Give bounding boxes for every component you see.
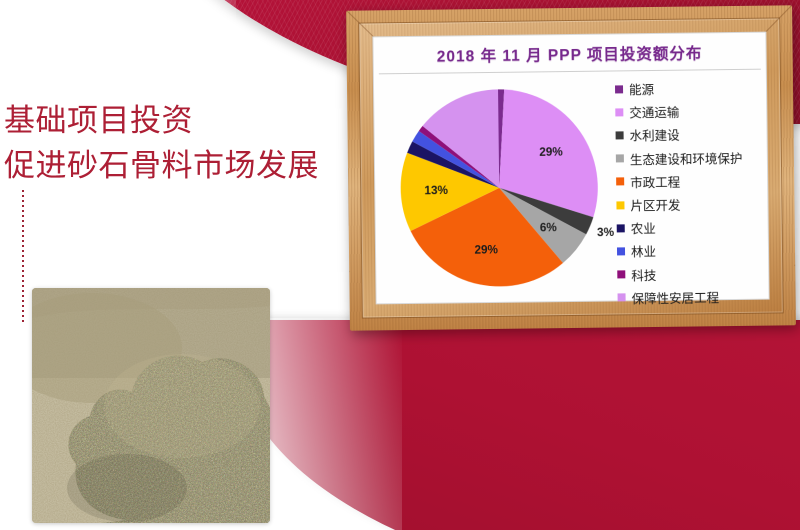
pie-slice-label: 13%	[424, 184, 448, 197]
pie-slice-label: 29%	[474, 243, 498, 256]
legend-item-label: 能源	[629, 79, 654, 98]
legend-item-label: 交通运输	[629, 102, 679, 122]
legend-item[interactable]: 农业	[617, 215, 765, 240]
headline-line-2: 促进砂石骨料市场发展	[4, 143, 349, 188]
legend-item[interactable]: 林业	[617, 238, 765, 263]
pie-slice-label: 3%	[597, 226, 615, 239]
pie-slice-label: 29%	[539, 145, 563, 158]
legend-swatch-icon	[616, 155, 624, 163]
legend-item[interactable]: 科技	[617, 261, 765, 286]
legend-item-label: 片区开发	[630, 195, 680, 215]
legend-item[interactable]: 市政工程	[616, 168, 764, 193]
legend-swatch-icon	[616, 201, 624, 209]
legend-item-label: 林业	[631, 241, 656, 260]
dotted-divider	[22, 190, 24, 325]
legend-swatch-icon	[618, 294, 626, 302]
legend-item[interactable]: 交通运输	[615, 99, 763, 124]
legend-item[interactable]: 能源	[615, 76, 763, 101]
chart-title: 2018 年 11 月 PPP 项目投资额分布	[372, 41, 766, 68]
legend-item-label: 市政工程	[630, 172, 680, 192]
legend-item-label: 农业	[631, 218, 656, 237]
chart-board: 2018 年 11 月 PPP 项目投资额分布 29%3%6%29%13% 能源…	[372, 32, 769, 305]
slide-canvas: 基础项目投资 促进砂石骨料市场发展	[0, 0, 800, 530]
legend-item[interactable]: 片区开发	[616, 192, 764, 217]
headline-line-1: 基础项目投资	[4, 98, 349, 143]
legend-swatch-icon	[615, 85, 623, 93]
legend-swatch-icon	[616, 131, 624, 139]
legend-swatch-icon	[617, 270, 625, 278]
legend-item[interactable]: 水利建设	[615, 122, 763, 147]
framed-chart: 2018 年 11 月 PPP 项目投资额分布 29%3%6%29%13% 能源…	[346, 5, 796, 330]
legend-swatch-icon	[616, 178, 624, 186]
legend-item-label: 科技	[631, 265, 656, 284]
chart-legend: 能源交通运输水利建设生态建设和环境保护市政工程片区开发农业林业科技保障性安居工程	[615, 76, 766, 310]
aggregate-photo	[32, 288, 270, 523]
headline: 基础项目投资 促进砂石骨料市场发展	[4, 98, 349, 188]
pie-slice-label: 6%	[540, 221, 558, 234]
legend-item[interactable]: 生态建设和环境保护	[616, 145, 764, 170]
legend-item-label: 生态建设和环境保护	[630, 148, 743, 168]
legend-item[interactable]: 保障性安居工程	[617, 284, 765, 309]
legend-swatch-icon	[615, 108, 623, 116]
pie-chart-svg: 29%3%6%29%13%	[379, 79, 620, 296]
chart-title-divider	[379, 69, 761, 75]
pie-chart: 29%3%6%29%13%	[379, 79, 620, 296]
legend-swatch-icon	[617, 224, 625, 232]
legend-item-label: 水利建设	[629, 125, 679, 145]
legend-swatch-icon	[617, 247, 625, 255]
aggregate-photo-graphic	[32, 288, 270, 523]
legend-item-label: 保障性安居工程	[631, 287, 719, 307]
